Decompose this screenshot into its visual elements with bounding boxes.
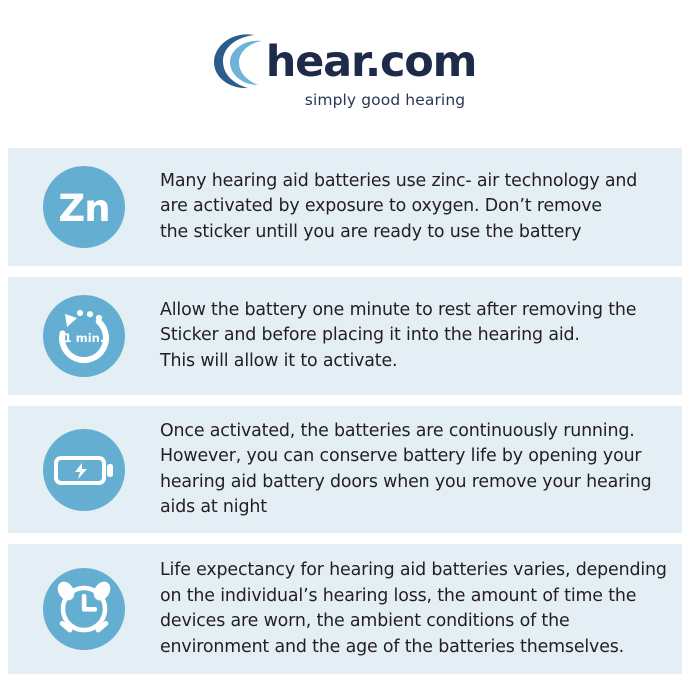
tip-text-line: environment and the age of the batteries… xyxy=(160,635,667,661)
tip-text-line: Sticker and before placing it into the h… xyxy=(160,323,662,349)
tip-text-line: hearing aid battery doors when you remov… xyxy=(160,470,662,496)
tip-text-line: are activated by exposure to oxygen. Don… xyxy=(160,194,662,220)
timer-label: 1 min. xyxy=(64,331,105,345)
tip-panel-timer: 1 min. Allow the battery one minute to r… xyxy=(8,277,682,395)
logo-tagline: simply good hearing xyxy=(305,91,465,109)
tip-text-timer: Allow the battery one minute to rest aft… xyxy=(160,298,672,375)
tip-icon-wrap xyxy=(8,429,160,511)
one-minute-timer-icon: 1 min. xyxy=(43,295,125,377)
tip-text-zinc: Many hearing aid batteries use zinc- air… xyxy=(160,169,672,246)
alarm-clock-icon xyxy=(43,568,125,650)
tip-text-line: the sticker untill you are ready to use … xyxy=(160,220,662,246)
tip-text-line: aids at night xyxy=(160,495,662,521)
tip-panel-zinc: Zn Many hearing aid batteries use zinc- … xyxy=(8,148,682,266)
logo-wordmark: hear.com xyxy=(266,41,476,84)
tip-text-line: Allow the battery one minute to rest aft… xyxy=(160,298,662,324)
tip-panel-lifespan: Life expectancy for hearing aid batterie… xyxy=(8,544,682,674)
tip-text-lifespan: Life expectancy for hearing aid batterie… xyxy=(160,558,677,660)
tip-text-line: This will allow it to activate. xyxy=(160,349,662,375)
zinc-symbol-icon: Zn xyxy=(43,166,125,248)
tip-icon-wrap: Zn xyxy=(8,166,160,248)
tip-text-line: devices are worn, the ambient conditions… xyxy=(160,609,667,635)
battery-charge-icon xyxy=(43,429,125,511)
tip-icon-wrap xyxy=(8,568,160,650)
tip-text-battery: Once activated, the batteries are contin… xyxy=(160,419,672,521)
tip-text-line: Life expectancy for hearing aid batterie… xyxy=(160,558,667,584)
tip-text-line: Once activated, the batteries are contin… xyxy=(160,419,662,445)
tip-text-line: Many hearing aid batteries use zinc- air… xyxy=(160,169,662,195)
tip-text-line: on the individual’s hearing loss, the am… xyxy=(160,584,667,610)
tip-panel-battery: Once activated, the batteries are contin… xyxy=(8,406,682,533)
hear-crescent-icon xyxy=(210,29,272,91)
tip-icon-wrap: 1 min. xyxy=(8,295,160,377)
zinc-symbol-label: Zn xyxy=(58,190,109,227)
brand-logo: hear.com simply good hearing xyxy=(0,32,690,122)
tip-text-line: However, you can conserve battery life b… xyxy=(160,444,662,470)
tips-list: Zn Many hearing aid batteries use zinc- … xyxy=(8,148,682,685)
infographic-page: hear.com simply good hearing Zn Many hea… xyxy=(0,0,690,700)
logo-row: hear.com xyxy=(210,32,476,88)
